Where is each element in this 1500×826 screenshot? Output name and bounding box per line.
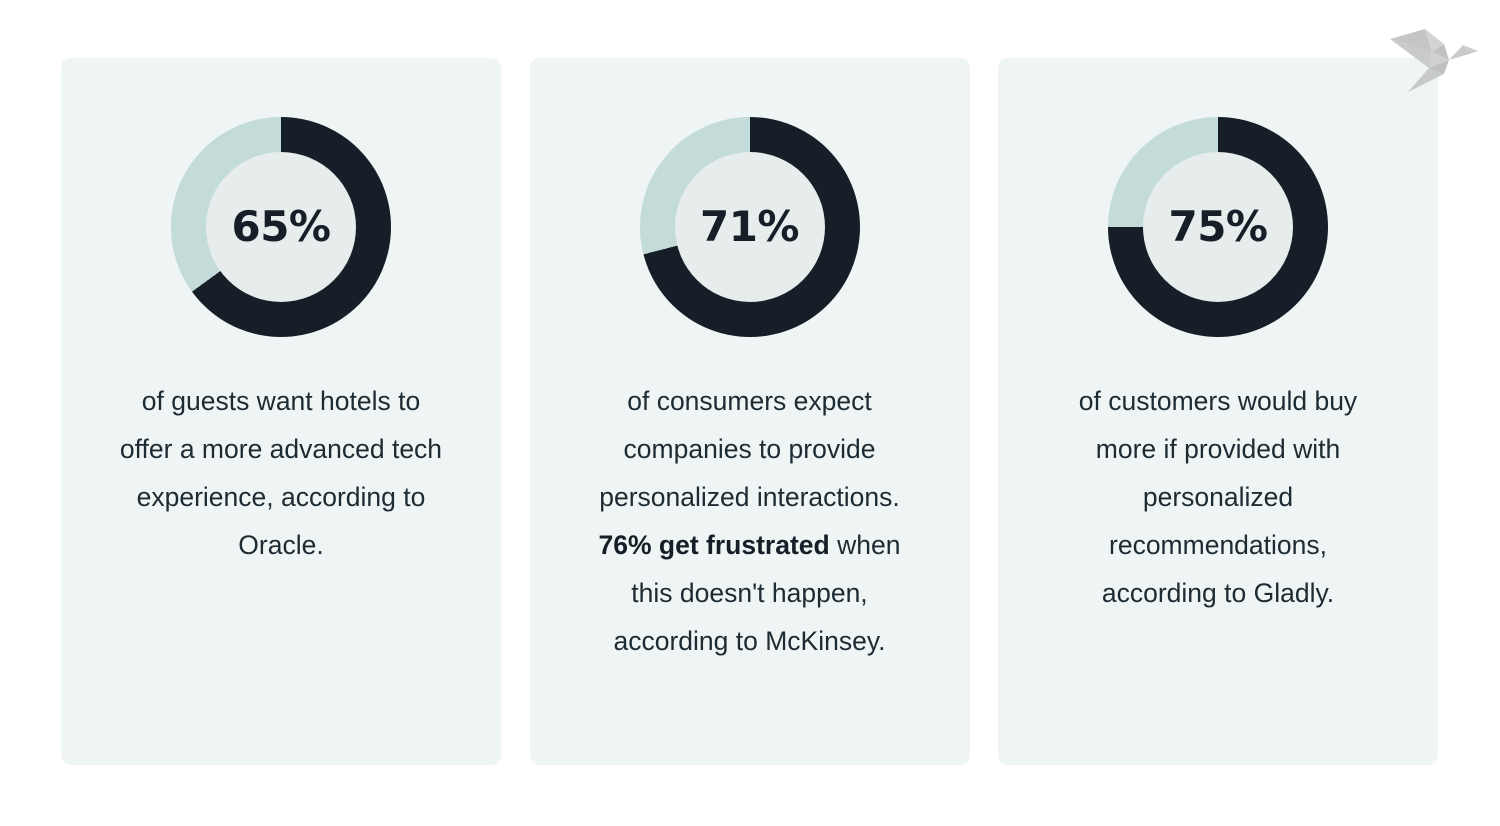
donut-chart-75: 75% <box>1108 117 1328 337</box>
stat-card-consumers-personalized-interactions: 71% of consumers expect companies to pro… <box>530 58 970 765</box>
stats-infographic: 65% of guests want hotels to offer a mor… <box>0 0 1500 826</box>
donut-percent-label: 65% <box>231 206 330 248</box>
stat-card-caption: of consumers expect companies to provide… <box>585 377 915 665</box>
donut-hole: 65% <box>206 152 356 302</box>
donut-percent-label: 75% <box>1168 206 1267 248</box>
donut-chart-65: 65% <box>171 117 391 337</box>
stat-card-caption: of customers would buy more if provided … <box>1053 377 1383 617</box>
stat-card-caption: of guests want hotels to offer a more ad… <box>116 377 446 569</box>
donut-chart-71: 71% <box>640 117 860 337</box>
stat-card-row: 65% of guests want hotels to offer a mor… <box>61 58 1438 765</box>
donut-percent-label: 71% <box>700 206 799 248</box>
stat-card-customers-personalized-recommendations: 75% of customers would buy more if provi… <box>998 58 1438 765</box>
donut-hole: 71% <box>675 152 825 302</box>
donut-hole: 75% <box>1143 152 1293 302</box>
stat-card-guests-tech-experience: 65% of guests want hotels to offer a mor… <box>61 58 501 765</box>
